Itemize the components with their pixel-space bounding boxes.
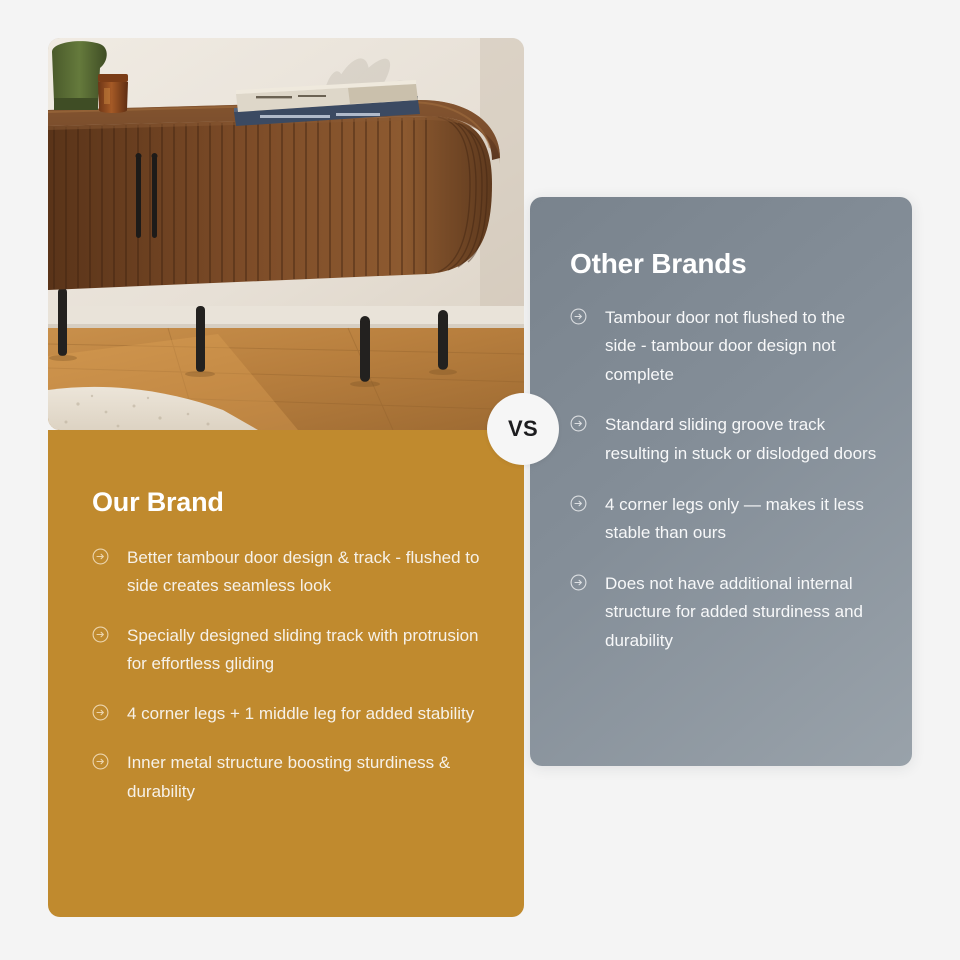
- our-brand-title: Our Brand: [92, 488, 480, 518]
- other-brands-panel: Other Brands Tambour door not flushed to…: [530, 197, 912, 766]
- list-item-text: Specially designed sliding track with pr…: [127, 622, 480, 679]
- other-brands-bullet-list: Tambour door not flushed to the side - t…: [570, 304, 878, 655]
- list-item: Inner metal structure boosting sturdines…: [92, 749, 480, 806]
- arrow-circle-right-icon: [92, 626, 109, 643]
- arrow-circle-right-icon: [92, 704, 109, 721]
- list-item-text: 4 corner legs + 1 middle leg for added s…: [127, 700, 474, 729]
- our-brand-panel: Our Brand Better tambour door design & t…: [48, 430, 524, 917]
- comparison-infographic: Other Brands Tambour door not flushed to…: [0, 0, 960, 960]
- arrow-circle-right-icon: [570, 495, 587, 512]
- list-item-text: Better tambour door design & track - flu…: [127, 544, 480, 601]
- our-brand-bullet-list: Better tambour door design & track - flu…: [92, 544, 480, 807]
- other-brands-title: Other Brands: [570, 249, 878, 280]
- arrow-circle-right-icon: [570, 574, 587, 591]
- list-item: Does not have additional internal struct…: [570, 570, 878, 656]
- product-photo-illustration: [48, 38, 524, 430]
- list-item-text: Standard sliding groove track resulting …: [605, 411, 878, 468]
- list-item: Specially designed sliding track with pr…: [92, 622, 480, 679]
- product-photo: [48, 38, 524, 430]
- list-item-text: Inner metal structure boosting sturdines…: [127, 749, 480, 806]
- list-item: Tambour door not flushed to the side - t…: [570, 304, 878, 390]
- list-item: 4 corner legs + 1 middle leg for added s…: [92, 700, 480, 729]
- list-item-text: Tambour door not flushed to the side - t…: [605, 304, 878, 390]
- list-item: Better tambour door design & track - flu…: [92, 544, 480, 601]
- list-item-text: 4 corner legs only — makes it less stabl…: [605, 491, 878, 548]
- vs-badge: VS: [487, 393, 559, 465]
- arrow-circle-right-icon: [570, 415, 587, 432]
- vs-badge-label: VS: [508, 416, 538, 442]
- list-item: 4 corner legs only — makes it less stabl…: [570, 491, 878, 548]
- list-item: Standard sliding groove track resulting …: [570, 411, 878, 468]
- arrow-circle-right-icon: [92, 548, 109, 565]
- arrow-circle-right-icon: [92, 753, 109, 770]
- list-item-text: Does not have additional internal struct…: [605, 570, 878, 656]
- jar-decor: [98, 74, 128, 113]
- arrow-circle-right-icon: [570, 308, 587, 325]
